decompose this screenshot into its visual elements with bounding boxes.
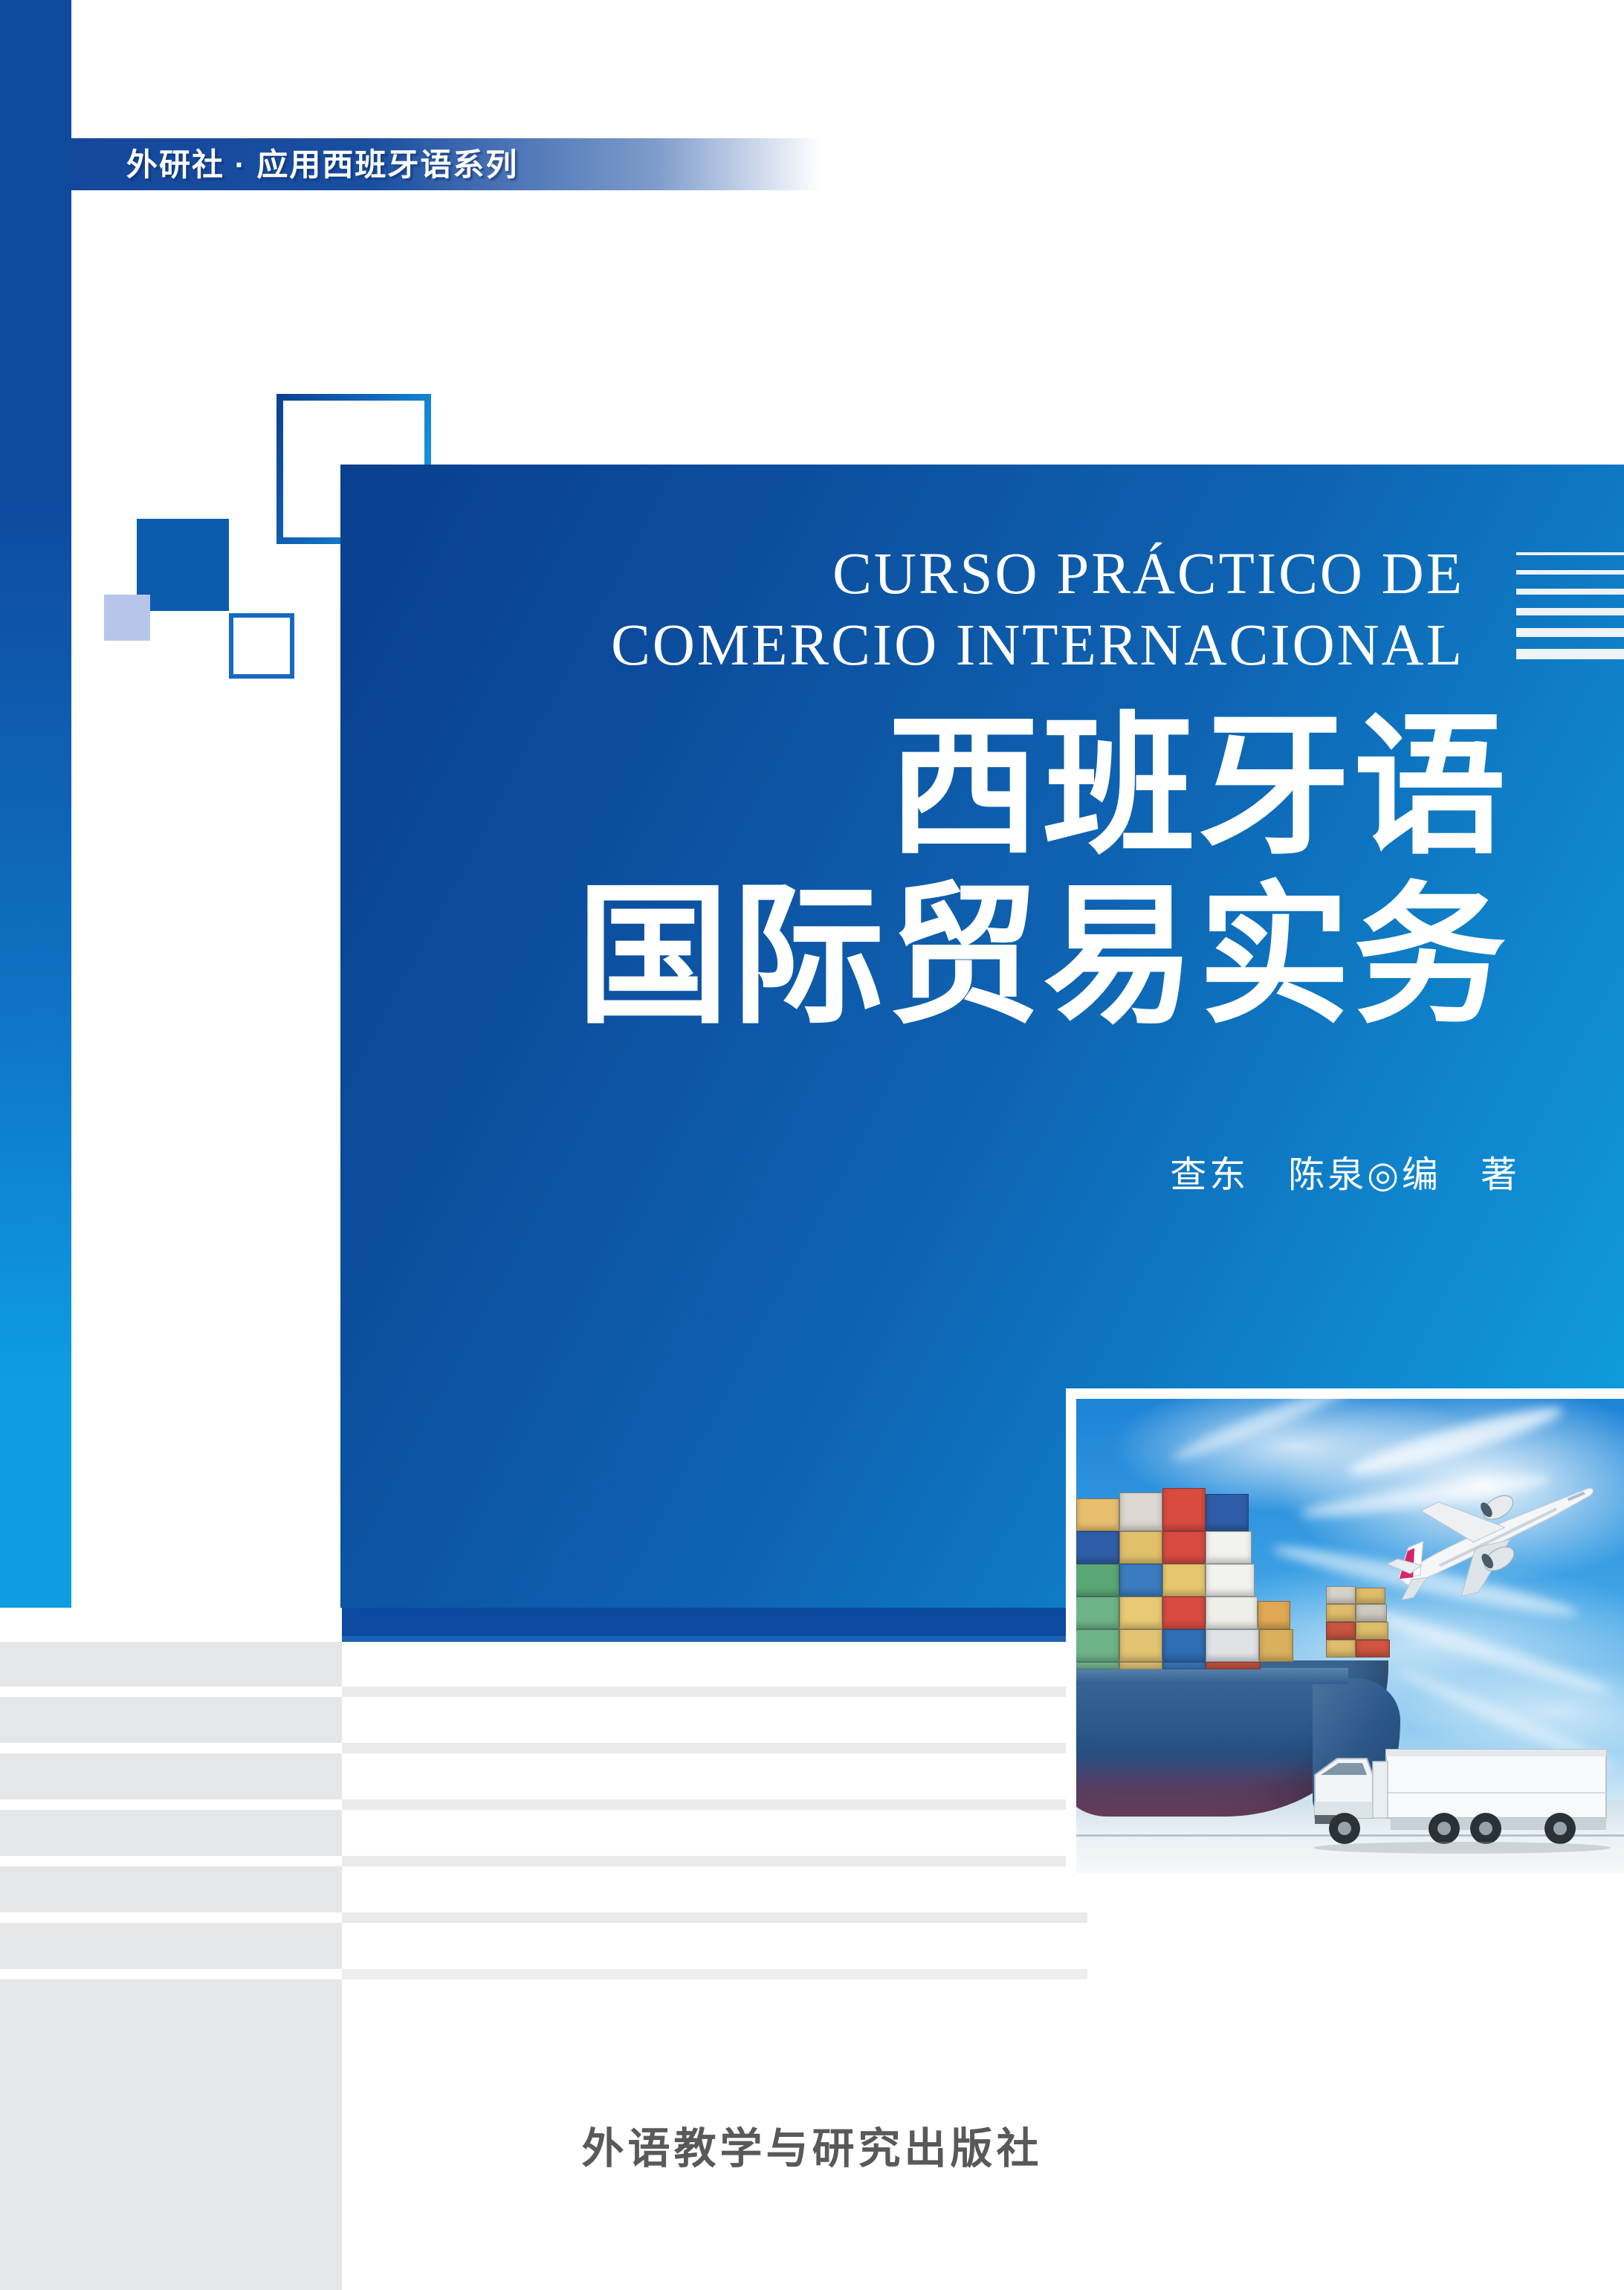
page-stack-stripe-left [0, 1743, 342, 1753]
shipping-container [1162, 1597, 1206, 1629]
ship-deck [1066, 1668, 1348, 1684]
page-stack-stripe-left [0, 1608, 342, 1636]
page-stack-stripe-right [342, 1810, 1087, 1856]
shipping-container [1326, 1604, 1356, 1622]
page-stack-stripe-left [0, 1697, 342, 1743]
chinese-title-line2: 国际贸易实务 [0, 872, 1509, 1041]
shipping-container [1206, 1597, 1258, 1629]
shipping-container [1326, 1640, 1356, 1657]
page-stack-stripe-right [342, 1743, 1087, 1753]
shipping-container [1162, 1564, 1206, 1597]
page-stack-stripe-right [342, 1969, 1087, 1979]
page-stack-stripe-left [0, 1923, 342, 1969]
chinese-title-line1: 西班牙语 [0, 702, 1509, 872]
shipping-container [1162, 1629, 1206, 1662]
shipping-container [1119, 1662, 1162, 1669]
page-stack-stripe-right [342, 1753, 1087, 1799]
page-stack-stripe-left [0, 1753, 342, 1799]
shipping-container [1076, 1498, 1119, 1531]
shipping-container [1356, 1640, 1390, 1657]
shipping-container [1356, 1622, 1388, 1640]
page-stack-stripe-left [0, 1636, 342, 1642]
spanish-subtitle: CURSO PRÁCTICO DE COMERCIO INTERNACIONAL [0, 539, 1624, 682]
page-stack-stripe-left [0, 1866, 342, 1912]
shipping-container [1206, 1494, 1249, 1531]
page-stack-stripe-left [0, 1912, 342, 1923]
cover-photo [1066, 1388, 1624, 1873]
shipping-container [1066, 1662, 1119, 1669]
shipping-container [1066, 1629, 1119, 1662]
page-stack-stripe-left [0, 1642, 342, 1686]
page-stack-stripe-right [342, 1866, 1087, 1912]
shipping-container [1066, 1597, 1119, 1629]
delivery-truck-icon [1298, 1736, 1611, 1855]
shipping-container [1119, 1492, 1162, 1531]
shipping-container [1206, 1531, 1252, 1564]
publisher-name: 外语教学与研究出版社 [0, 2115, 1624, 2176]
page-stack-stripe-right [342, 1799, 1087, 1810]
shipping-container [1258, 1601, 1290, 1629]
page-title: 西班牙语 国际贸易实务 [0, 702, 1624, 1041]
shipping-container [1206, 1629, 1259, 1662]
page-stack-stripe-left [0, 1856, 342, 1866]
author-byline: 查东 陈泉◎编 著 [0, 1145, 1624, 1198]
shipping-container [1206, 1564, 1255, 1597]
shipping-container [1162, 1488, 1206, 1531]
shipping-container [1119, 1531, 1162, 1564]
page-stack-stripe-left [0, 1810, 342, 1856]
container-stack [1066, 1446, 1329, 1669]
page-stack-stripe-right [342, 1923, 1087, 1969]
page-stack-stripe [0, 1969, 1624, 1979]
shipping-container [1066, 1564, 1119, 1597]
shipping-container [1119, 1629, 1162, 1662]
page-stack-stripe [0, 1912, 1624, 1923]
shipping-container [1162, 1662, 1206, 1669]
page-stack-stripe-right [342, 1856, 1087, 1866]
shipping-container [1326, 1622, 1356, 1640]
shipping-container [1206, 1662, 1261, 1669]
page-stack-stripe [0, 1866, 1624, 1912]
cargo-airplane-icon [1362, 1467, 1608, 1616]
page-stack-stripe-right [342, 1697, 1087, 1743]
page-stack-stripe-left [0, 1969, 342, 1979]
page-stack-stripe-right [342, 1608, 1087, 1636]
page-stack-stripe-left [0, 1799, 342, 1810]
spanish-subtitle-line2: COMERCIO INTERNACIONAL [0, 610, 1464, 682]
shipping-container [1119, 1564, 1162, 1597]
shipping-container [1119, 1597, 1162, 1629]
series-banner-label: 外研社 · 应用西班牙语系列 [126, 141, 518, 189]
page-stack-stripe-right [342, 1912, 1087, 1923]
page-stack-stripe-right [342, 1642, 1087, 1686]
page-stack-stripe-right [342, 1636, 1087, 1642]
shipping-container [1326, 1586, 1356, 1604]
shipping-container [1069, 1531, 1119, 1564]
page-stack-stripe [0, 1923, 1624, 1969]
spanish-subtitle-line1: CURSO PRÁCTICO DE [0, 539, 1464, 610]
shipping-container [1259, 1629, 1293, 1662]
shipping-container [1162, 1531, 1206, 1564]
page-stack-stripe-left [0, 1686, 342, 1697]
page-stack-stripe-right [342, 1686, 1087, 1697]
